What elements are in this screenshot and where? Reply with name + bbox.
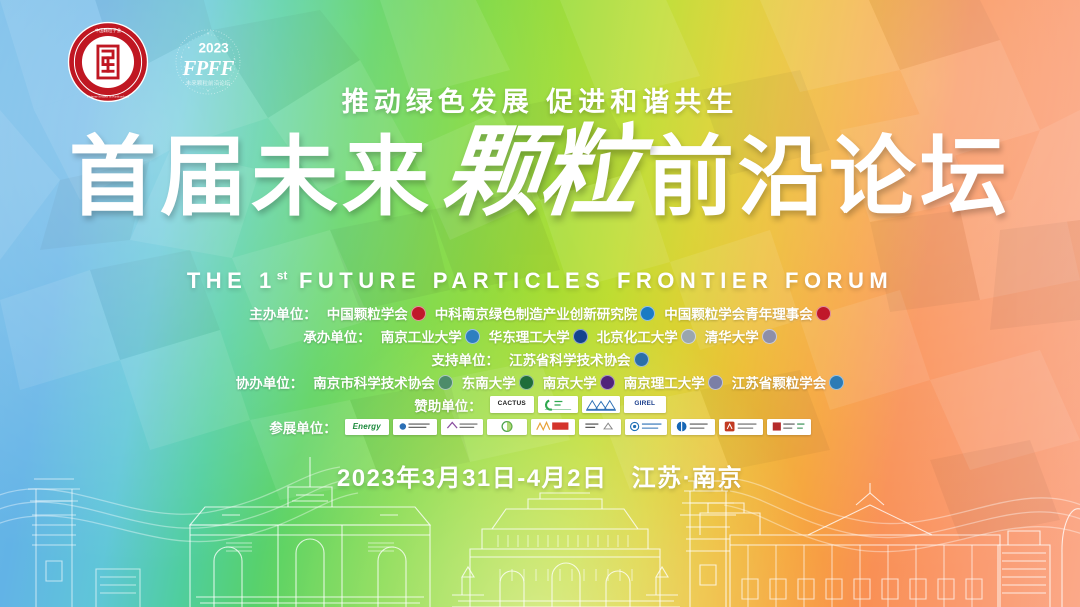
exhibitor-mark-icon bbox=[443, 420, 481, 433]
credit-label: 赞助单位： bbox=[414, 395, 482, 415]
entity-name: 中科南京绿色制造产业创新研究院 bbox=[435, 303, 638, 323]
exhibitor-logo-3 bbox=[441, 419, 483, 435]
entity-name: 北京化工大学 bbox=[597, 326, 678, 346]
entity-name: 中国颗粒学会 bbox=[327, 303, 408, 323]
blue-crystal-icon bbox=[584, 398, 618, 412]
entity-badge-icon bbox=[600, 375, 615, 390]
title-part-1: 首届未来 bbox=[69, 134, 433, 221]
credit-label: 承办单位： bbox=[303, 326, 371, 346]
exhibitor-logo-9 bbox=[719, 419, 763, 435]
sponsor-logo-row: 赞助单位： CACTUS GIREL bbox=[414, 395, 666, 414]
subtitle-post: FUTURE PARTICLES FRONTIER FORUM bbox=[287, 268, 893, 293]
entity-badge-icon bbox=[762, 329, 777, 344]
exhibitor-logo-row: 参展单位： Energy bbox=[269, 417, 811, 436]
credit-entity: 江苏省科学技术协会 bbox=[509, 349, 649, 369]
credit-entity: 北京化工大学 bbox=[597, 326, 696, 346]
credits-block: 主办单位： 中国颗粒学会 中科南京绿色制造产业创新研究院 中国颗粒学会青年理事会… bbox=[0, 303, 1080, 436]
exhibitor-mark-icon bbox=[627, 420, 665, 433]
sponsor-logo-cactus: CACTUS bbox=[490, 396, 534, 413]
title-part-3: 前沿论坛 bbox=[647, 134, 1011, 221]
entity-badge-icon bbox=[573, 329, 588, 344]
exhibitor-mark-icon bbox=[581, 420, 619, 433]
exhibitor-mark-icon bbox=[673, 420, 713, 433]
subtitle-ordinal-suffix: st bbox=[277, 269, 288, 283]
credit-label: 支持单位： bbox=[432, 349, 500, 369]
exhibitor-logo-7 bbox=[625, 419, 667, 435]
entity-badge-icon bbox=[640, 306, 655, 321]
entity-name: 南京市科学技术协会 bbox=[313, 372, 435, 392]
poster-tagline: 推动绿色发展 促进和谐共生 bbox=[0, 80, 1080, 119]
entity-badge-icon bbox=[411, 306, 426, 321]
event-location: 江苏·南京 bbox=[632, 465, 744, 492]
entity-badge-icon bbox=[681, 329, 696, 344]
sponsor-logo-girel: GIREL bbox=[624, 396, 666, 413]
entity-badge-icon bbox=[816, 306, 831, 321]
exhibitor-logo-5 bbox=[531, 419, 575, 435]
entity-badge-icon bbox=[465, 329, 480, 344]
date-location-bar: 2023年3月31日-4月2日 江苏·南京 bbox=[0, 458, 1080, 493]
credit-entity: 东南大学 bbox=[462, 372, 534, 392]
credit-line-hosts: 承办单位： 南京工业大学 华东理工大学 北京化工大学 清华大学 bbox=[303, 326, 777, 346]
credit-entity: 南京理工大学 bbox=[624, 372, 723, 392]
credit-entity: 清华大学 bbox=[705, 326, 777, 346]
credit-line-organizers: 主办单位： 中国颗粒学会 中科南京绿色制造产业创新研究院 中国颗粒学会青年理事会 bbox=[249, 303, 831, 323]
event-date: 2023年3月31日-4月2日 bbox=[337, 465, 608, 492]
credit-entity: 中国颗粒学会青年理事会 bbox=[664, 303, 831, 323]
entity-name: 南京大学 bbox=[543, 372, 597, 392]
poster-subtitle-english: THE 1st FUTURE PARTICLES FRONTIER FORUM bbox=[0, 268, 1080, 294]
exhibitor-logo-6 bbox=[579, 419, 621, 435]
entity-badge-icon bbox=[519, 375, 534, 390]
title-part-2-calligraphy: 颗粒 bbox=[438, 124, 642, 223]
credit-entity: 华东理工大学 bbox=[489, 326, 588, 346]
entity-badge-icon bbox=[708, 375, 723, 390]
credit-line-supporters: 支持单位： 江苏省科学技术协会 bbox=[432, 349, 649, 369]
svg-text:中国颗粒学会: 中国颗粒学会 bbox=[95, 27, 122, 34]
exhibitor-mark-icon bbox=[721, 420, 761, 433]
svg-text:FPFF: FPFF bbox=[181, 57, 234, 80]
sponsor-logo-green-swirl bbox=[538, 396, 578, 413]
entity-name: 中国颗粒学会青年理事会 bbox=[664, 303, 813, 323]
green-swirl-icon bbox=[540, 398, 576, 412]
credit-entity: 南京市科学技术协会 bbox=[313, 372, 453, 392]
conference-poster: 中国颗粒学会 Chinese Society of Particuology 2… bbox=[0, 0, 1080, 607]
subtitle-pre: THE 1 bbox=[187, 268, 277, 293]
credit-entity: 江苏省颗粒学会 bbox=[732, 372, 845, 392]
entity-name: 江苏省科学技术协会 bbox=[509, 349, 631, 369]
credit-entity: 中国颗粒学会 bbox=[327, 303, 426, 323]
exhibitor-mark-icon bbox=[533, 420, 573, 433]
entity-badge-icon bbox=[829, 375, 844, 390]
entity-name: 清华大学 bbox=[705, 326, 759, 346]
credit-entity: 南京工业大学 bbox=[381, 326, 480, 346]
poster-title: 首届未来 颗粒 前沿论坛 bbox=[0, 128, 1080, 227]
entity-badge-icon bbox=[438, 375, 453, 390]
entity-name: 南京工业大学 bbox=[381, 326, 462, 346]
exhibitor-mark-icon bbox=[395, 420, 435, 433]
entity-badge-icon bbox=[634, 352, 649, 367]
exhibitor-logo-10 bbox=[767, 419, 811, 435]
exhibitor-logo-8 bbox=[671, 419, 715, 435]
credit-label: 参展单位： bbox=[269, 417, 337, 437]
entity-name: 华东理工大学 bbox=[489, 326, 570, 346]
credit-label: 主办单位： bbox=[249, 303, 317, 323]
credit-entity: 南京大学 bbox=[543, 372, 615, 392]
credit-label: 协办单位： bbox=[236, 372, 304, 392]
credit-entity: 中科南京绿色制造产业创新研究院 bbox=[435, 303, 656, 323]
exhibitor-logo-2 bbox=[393, 419, 437, 435]
exhibitor-mark-icon bbox=[769, 420, 809, 433]
exhibitor-logo-frontier-energy: Energy bbox=[345, 419, 389, 435]
exhibitor-logo-4 bbox=[487, 419, 527, 435]
entity-name: 江苏省颗粒学会 bbox=[732, 372, 827, 392]
credit-line-co-organizers: 协办单位： 南京市科学技术协会 东南大学 南京大学 南京理工大学 江苏省颗粒学会 bbox=[236, 372, 845, 392]
svg-text:2023: 2023 bbox=[198, 40, 229, 55]
exhibitor-mark-icon bbox=[489, 420, 525, 433]
entity-name: 东南大学 bbox=[462, 372, 516, 392]
sponsor-logo-blue-crystal bbox=[582, 396, 620, 413]
entity-name: 南京理工大学 bbox=[624, 372, 705, 392]
